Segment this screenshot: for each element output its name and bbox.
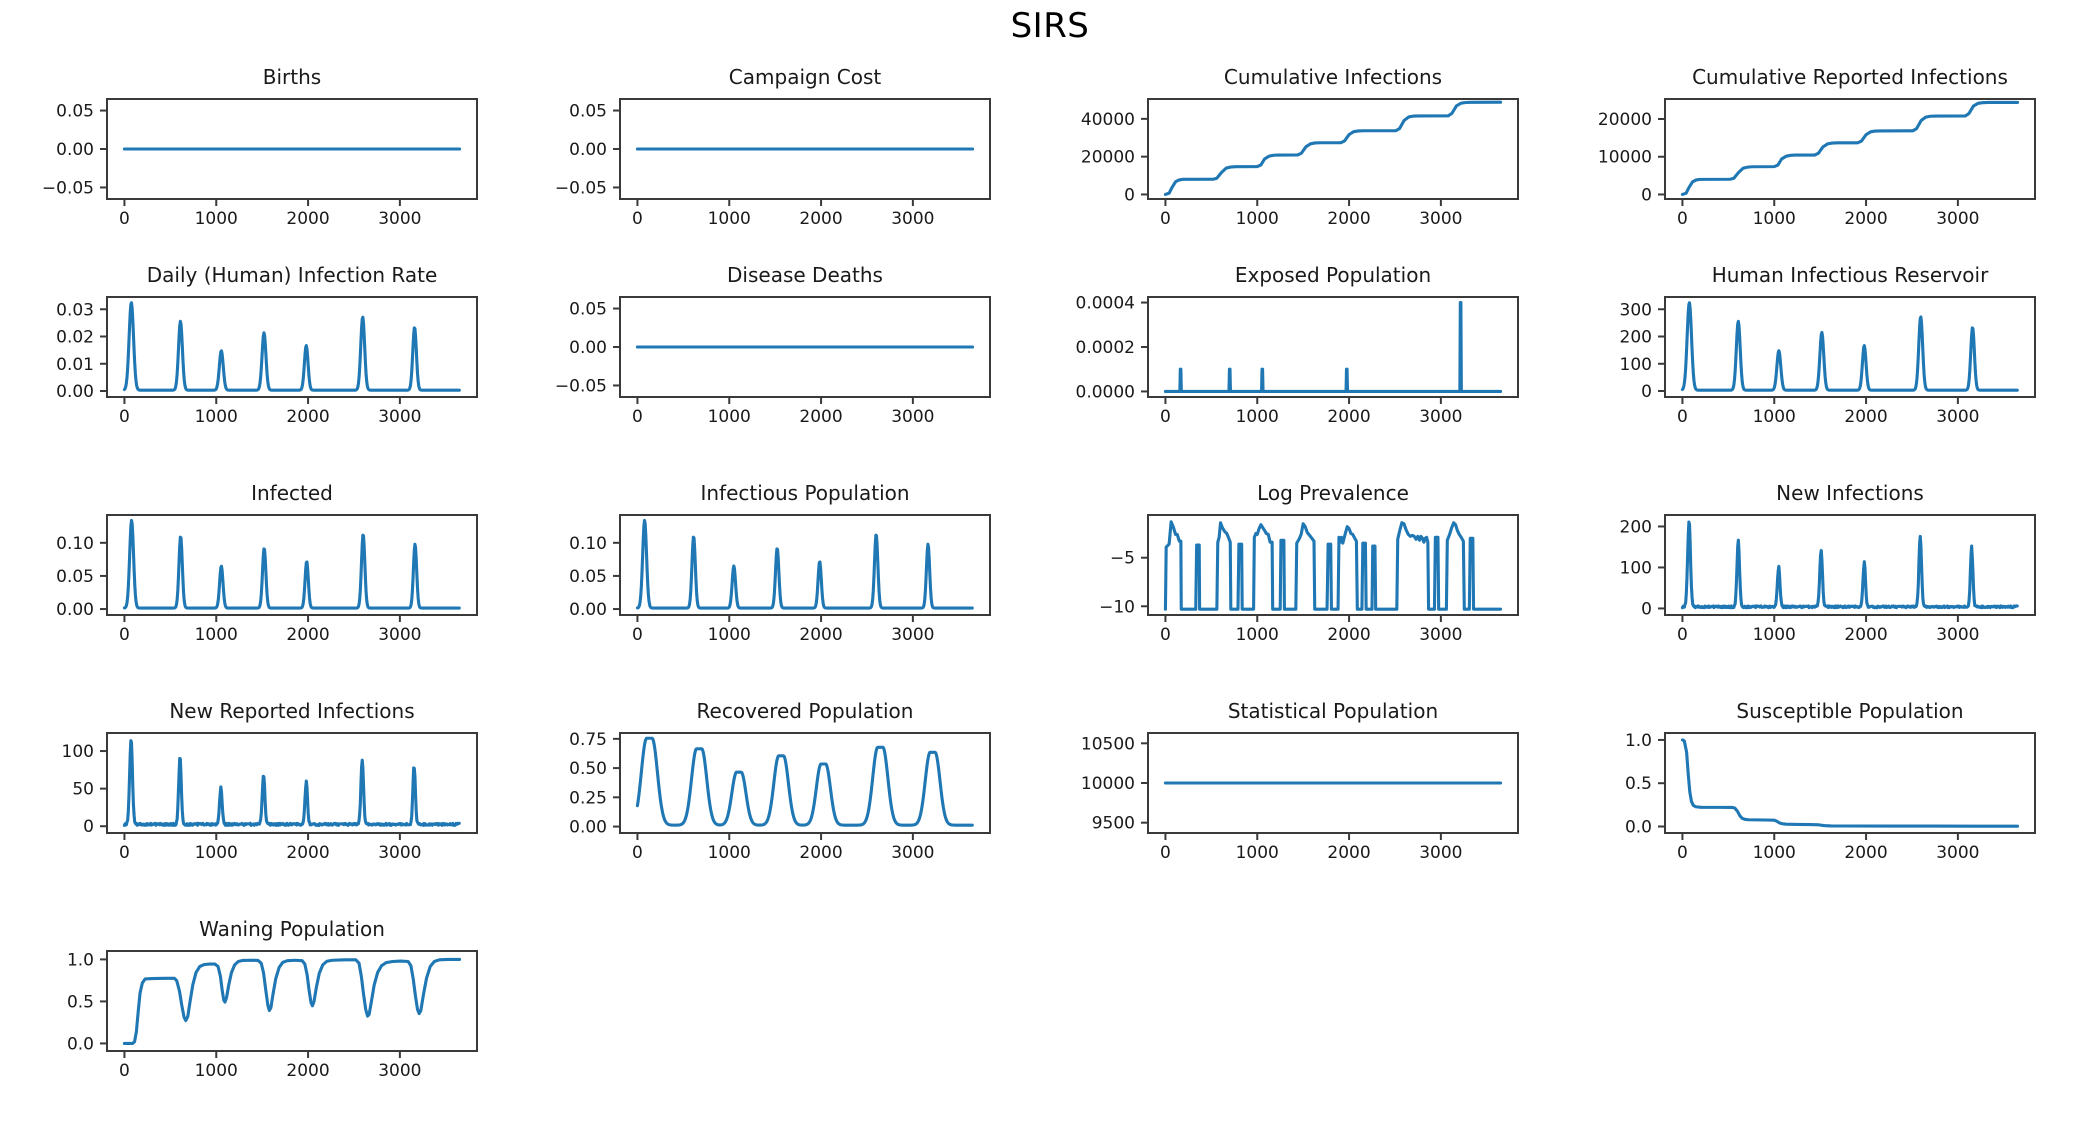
axes-frame [620, 733, 990, 833]
panel-recovered-population: Recovered Population0.000.250.500.750100… [520, 699, 1020, 889]
axes-statistical-population: 950010000105000100020003000 [1048, 729, 1548, 889]
y-tick-label: 0.00 [56, 140, 94, 160]
y-tick-label: 20000 [1598, 110, 1652, 130]
panel-title: Infected [107, 481, 477, 505]
axes-frame [107, 733, 477, 833]
x-tick-label: 3000 [891, 209, 934, 229]
x-tick-label: 0 [1677, 407, 1688, 427]
x-tick-label: 3000 [1419, 843, 1462, 863]
y-tick-label: 0.0 [1625, 818, 1652, 838]
x-tick-label: 1000 [708, 843, 751, 863]
x-tick-label: 3000 [891, 407, 934, 427]
x-tick-label: 0 [632, 209, 643, 229]
x-tick-label: 1000 [195, 407, 238, 427]
data-line-infected [124, 520, 459, 608]
x-tick-label: 0 [119, 625, 130, 645]
axes-frame [107, 297, 477, 397]
axes-cumulative-reported-infections: 010000200000100020003000 [1565, 95, 2065, 255]
y-tick-label: 9500 [1092, 814, 1135, 834]
y-tick-label: 200 [1620, 328, 1652, 348]
x-tick-label: 3000 [378, 209, 421, 229]
x-tick-label: 2000 [1844, 407, 1887, 427]
x-tick-label: 3000 [1419, 209, 1462, 229]
y-tick-label: 0.0 [67, 1034, 94, 1054]
panel-new-reported-infections: New Reported Infections05010001000200030… [7, 699, 507, 889]
x-tick-label: 2000 [799, 843, 842, 863]
panel-title: Log Prevalence [1148, 481, 1518, 505]
x-tick-label: 0 [119, 209, 130, 229]
y-tick-label: 0 [83, 817, 94, 837]
y-tick-label: 40000 [1081, 110, 1135, 130]
x-tick-label: 0 [119, 407, 130, 427]
x-tick-label: 0 [1677, 625, 1688, 645]
panel-daily-human-infection-rate: Daily (Human) Infection Rate0.000.010.02… [7, 263, 507, 453]
y-tick-label: 0.0004 [1076, 294, 1135, 314]
panel-title: Waning Population [107, 917, 477, 941]
y-tick-label: 20000 [1081, 148, 1135, 168]
panel-infectious-population: Infectious Population0.000.050.100100020… [520, 481, 1020, 671]
y-tick-label: 200 [1620, 517, 1652, 537]
y-tick-label: 0 [1641, 599, 1652, 619]
data-line-new_infections [1682, 522, 2017, 608]
y-tick-label: 10000 [1598, 148, 1652, 168]
panel-title: Daily (Human) Infection Rate [107, 263, 477, 287]
x-tick-label: 0 [1160, 625, 1171, 645]
x-tick-label: 1000 [1753, 625, 1796, 645]
panel-title: Births [107, 65, 477, 89]
y-tick-label: 1.0 [1625, 731, 1652, 751]
x-tick-label: 0 [632, 407, 643, 427]
data-line-new_reported_infections [124, 741, 459, 826]
panel-title: Infectious Population [620, 481, 990, 505]
x-tick-label: 2000 [799, 209, 842, 229]
panel-cumulative-reported-infections: Cumulative Reported Infections0100002000… [1565, 65, 2065, 255]
axes-frame [620, 515, 990, 615]
panel-title: Human Infectious Reservoir [1665, 263, 2035, 287]
x-tick-label: 0 [1160, 843, 1171, 863]
axes-frame [107, 515, 477, 615]
x-tick-label: 1000 [195, 843, 238, 863]
axes-frame [1148, 99, 1518, 199]
axes-frame [1665, 733, 2035, 833]
x-tick-label: 0 [1677, 843, 1688, 863]
panel-new-infections: New Infections01002000100020003000 [1565, 481, 2065, 671]
x-tick-label: 3000 [1419, 625, 1462, 645]
data-line-log_prevalence [1165, 522, 1500, 609]
y-tick-label: 1.0 [67, 950, 94, 970]
x-tick-label: 1000 [1753, 407, 1796, 427]
y-tick-label: 0.03 [56, 300, 94, 320]
x-tick-label: 2000 [799, 625, 842, 645]
axes-daily-human-infection-rate: 0.000.010.020.030100020003000 [7, 293, 507, 453]
y-tick-label: 0.75 [569, 730, 607, 750]
data-line-cumulative_infections [1165, 102, 1500, 194]
x-tick-label: 1000 [708, 625, 751, 645]
y-tick-label: 0.5 [67, 992, 94, 1012]
data-line-cumulative_reported_infections [1682, 102, 2017, 194]
y-tick-label: 10500 [1081, 734, 1135, 754]
panel-title: New Infections [1665, 481, 2035, 505]
y-tick-label: −10 [1099, 597, 1135, 617]
y-tick-label: 0.05 [56, 102, 94, 122]
data-line-infectious_population [637, 520, 972, 608]
y-tick-label: 0.00 [569, 818, 607, 838]
panel-infected: Infected0.000.050.100100020003000 [7, 481, 507, 671]
panel-cumulative-infections: Cumulative Infections0200004000001000200… [1048, 65, 1548, 255]
panel-disease-deaths: Disease Deaths−0.050.000.050100020003000 [520, 263, 1020, 453]
x-tick-label: 2000 [1844, 625, 1887, 645]
axes-human-infectious-reservoir: 01002003000100020003000 [1565, 293, 2065, 453]
panel-susceptible-population: Susceptible Population0.00.51.0010002000… [1565, 699, 2065, 889]
y-tick-label: 0 [1641, 185, 1652, 205]
panel-title: Cumulative Infections [1148, 65, 1518, 89]
y-tick-label: 0.01 [56, 355, 94, 375]
axes-exposed-population: 0.00000.00020.00040100020003000 [1048, 293, 1548, 453]
x-tick-label: 3000 [1936, 625, 1979, 645]
x-tick-label: 3000 [378, 625, 421, 645]
data-line-human_infectious_reservoir [1682, 303, 2017, 390]
panel-campaign-cost: Campaign Cost−0.050.000.050100020003000 [520, 65, 1020, 255]
x-tick-label: 1000 [708, 209, 751, 229]
x-tick-label: 1000 [1753, 209, 1796, 229]
axes-frame [1665, 99, 2035, 199]
axes-susceptible-population: 0.00.51.00100020003000 [1565, 729, 2065, 889]
y-tick-label: 0 [1641, 382, 1652, 402]
panel-human-infectious-reservoir: Human Infectious Reservoir01002003000100… [1565, 263, 2065, 453]
panel-title: Campaign Cost [620, 65, 990, 89]
x-tick-label: 2000 [799, 407, 842, 427]
y-tick-label: 0.00 [56, 600, 94, 620]
axes-frame [1665, 297, 2035, 397]
y-tick-label: −0.05 [555, 376, 607, 396]
x-tick-label: 2000 [1844, 843, 1887, 863]
panel-title: Disease Deaths [620, 263, 990, 287]
data-line-susceptible_population [1682, 740, 2017, 826]
axes-log-prevalence: −10−50100020003000 [1048, 511, 1548, 671]
x-tick-label: 0 [1677, 209, 1688, 229]
x-tick-label: 1000 [1236, 625, 1279, 645]
x-tick-label: 2000 [286, 625, 329, 645]
x-tick-label: 0 [119, 843, 130, 863]
y-tick-label: 0.25 [569, 788, 607, 808]
x-tick-label: 0 [1160, 407, 1171, 427]
y-tick-label: 0.00 [56, 382, 94, 402]
x-tick-label: 1000 [1236, 407, 1279, 427]
x-tick-label: 2000 [1327, 407, 1370, 427]
y-tick-label: −0.05 [555, 178, 607, 198]
x-tick-label: 0 [632, 843, 643, 863]
axes-infectious-population: 0.000.050.100100020003000 [520, 511, 1020, 671]
x-tick-label: 3000 [1419, 407, 1462, 427]
y-tick-label: 0.05 [56, 567, 94, 587]
data-line-recovered_population [637, 738, 972, 825]
figure-canvas: SIRS Births−0.050.000.050100020003000Cam… [0, 0, 2100, 1125]
y-tick-label: 0.00 [569, 600, 607, 620]
panel-title: Cumulative Reported Infections [1665, 65, 2035, 89]
y-tick-label: 50 [72, 780, 94, 800]
x-tick-label: 1000 [195, 1061, 238, 1081]
y-tick-label: −5 [1110, 549, 1135, 569]
panel-title: Susceptible Population [1665, 699, 2035, 723]
x-tick-label: 1000 [1236, 843, 1279, 863]
x-tick-label: 1000 [195, 209, 238, 229]
x-tick-label: 2000 [286, 209, 329, 229]
panel-statistical-population: Statistical Population950010000105000100… [1048, 699, 1548, 889]
data-line-exposed_population [1165, 303, 1500, 392]
x-tick-label: 3000 [378, 407, 421, 427]
x-tick-label: 2000 [1327, 843, 1370, 863]
x-tick-label: 1000 [708, 407, 751, 427]
axes-cumulative-infections: 020000400000100020003000 [1048, 95, 1548, 255]
y-tick-label: 0 [1124, 185, 1135, 205]
axes-infected: 0.000.050.100100020003000 [7, 511, 507, 671]
y-tick-label: 0.50 [569, 759, 607, 779]
y-tick-label: 0.02 [56, 328, 94, 348]
axes-recovered-population: 0.000.250.500.750100020003000 [520, 729, 1020, 889]
y-tick-label: 300 [1620, 300, 1652, 320]
x-tick-label: 2000 [1327, 625, 1370, 645]
x-tick-label: 3000 [1936, 407, 1979, 427]
x-tick-label: 2000 [286, 843, 329, 863]
panel-title: New Reported Infections [107, 699, 477, 723]
y-tick-label: −0.05 [42, 178, 94, 198]
x-tick-label: 1000 [1236, 209, 1279, 229]
x-tick-label: 0 [119, 1061, 130, 1081]
data-line-daily_infection_rate [124, 303, 459, 390]
x-tick-label: 3000 [891, 625, 934, 645]
figure-suptitle: SIRS [0, 6, 2100, 46]
axes-campaign-cost: −0.050.000.050100020003000 [520, 95, 1020, 255]
axes-disease-deaths: −0.050.000.050100020003000 [520, 293, 1020, 453]
y-tick-label: 0.10 [569, 534, 607, 554]
y-tick-label: 0.05 [569, 102, 607, 122]
axes-new-infections: 01002000100020003000 [1565, 511, 2065, 671]
panel-title: Exposed Population [1148, 263, 1518, 287]
x-tick-label: 2000 [1844, 209, 1887, 229]
y-tick-label: 100 [1620, 355, 1652, 375]
y-tick-label: 0.5 [1625, 774, 1652, 794]
axes-frame [1665, 515, 2035, 615]
x-tick-label: 2000 [286, 1061, 329, 1081]
axes-births: −0.050.000.050100020003000 [7, 95, 507, 255]
y-tick-label: 0.0000 [1076, 382, 1135, 402]
x-tick-label: 3000 [378, 843, 421, 863]
y-tick-label: 0.00 [569, 338, 607, 358]
y-tick-label: 0.05 [569, 300, 607, 320]
x-tick-label: 2000 [286, 407, 329, 427]
y-tick-label: 10000 [1081, 774, 1135, 794]
panel-title: Statistical Population [1148, 699, 1518, 723]
y-tick-label: 100 [62, 742, 94, 762]
panel-title: Recovered Population [620, 699, 990, 723]
y-tick-label: 100 [1620, 558, 1652, 578]
x-tick-label: 3000 [1936, 843, 1979, 863]
data-line-waning_population [124, 959, 459, 1043]
y-tick-label: 0.00 [569, 140, 607, 160]
axes-waning-population: 0.00.51.00100020003000 [7, 947, 507, 1107]
y-tick-label: 0.05 [569, 567, 607, 587]
y-tick-label: 0.0002 [1076, 338, 1135, 358]
x-tick-label: 3000 [891, 843, 934, 863]
x-tick-label: 0 [1160, 209, 1171, 229]
y-tick-label: 0.10 [56, 534, 94, 554]
x-tick-label: 3000 [378, 1061, 421, 1081]
x-tick-label: 1000 [195, 625, 238, 645]
x-tick-label: 3000 [1936, 209, 1979, 229]
panel-exposed-population: Exposed Population0.00000.00020.00040100… [1048, 263, 1548, 453]
x-tick-label: 2000 [1327, 209, 1370, 229]
panel-waning-population: Waning Population0.00.51.00100020003000 [7, 917, 507, 1107]
x-tick-label: 1000 [1753, 843, 1796, 863]
x-tick-label: 0 [632, 625, 643, 645]
panel-births: Births−0.050.000.050100020003000 [7, 65, 507, 255]
panel-log-prevalence: Log Prevalence−10−50100020003000 [1048, 481, 1548, 671]
axes-new-reported-infections: 0501000100020003000 [7, 729, 507, 889]
